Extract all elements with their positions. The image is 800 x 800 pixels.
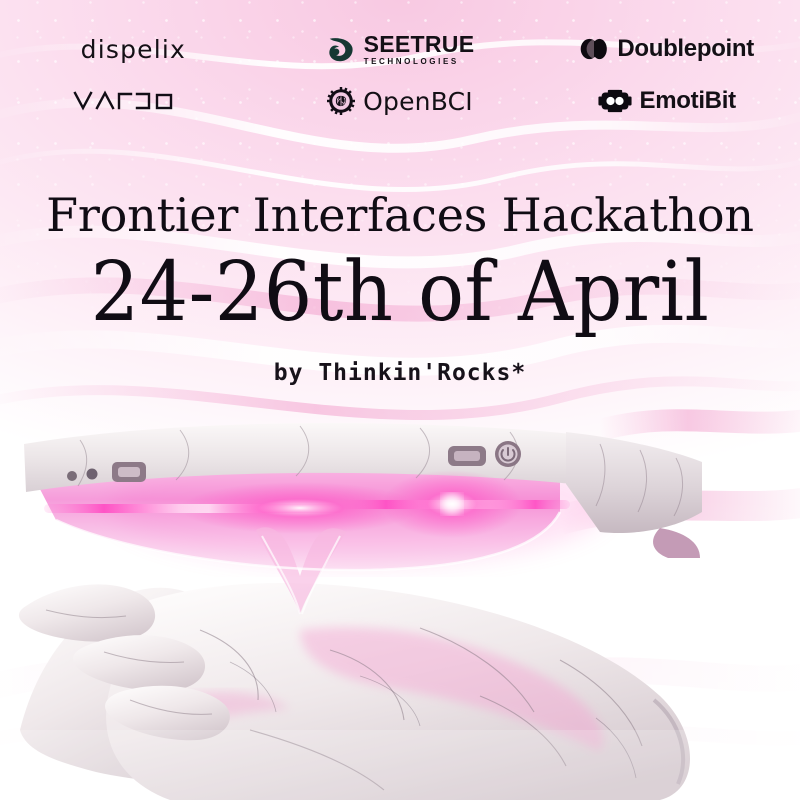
varjo-mark-icon — [73, 90, 193, 112]
seetrue-wordmark-block: SEETRUE TECHNOLOGIES — [364, 33, 475, 66]
headline-block: Frontier Interfaces Hackathon 24-26th of… — [0, 192, 800, 386]
ar-glasses — [24, 423, 702, 614]
sponsor-logo-seetrue[interactable]: SEETRUE TECHNOLOGIES — [267, 30, 534, 68]
seetrue-wordmark: SEETRUE — [364, 33, 475, 56]
poster-canvas: dispelix SEETRUE TECHNOLOGIES — [0, 0, 800, 800]
seetrue-subtitle: TECHNOLOGIES — [364, 58, 459, 66]
sensor-dot-1 — [67, 471, 77, 481]
sponsor-logo-grid: dispelix SEETRUE TECHNOLOGIES — [0, 30, 800, 120]
seetrue-eye-icon — [326, 34, 356, 64]
hero-artwork-marble-hand-ar-glasses — [0, 400, 800, 800]
sponsor-logo-openbci[interactable]: OpenBCI — [267, 82, 534, 120]
event-date: 24-26th of April — [28, 252, 772, 334]
doublepoint-wordmark: Doublepoint — [617, 37, 754, 61]
doublepoint-dots-icon — [579, 38, 609, 60]
sensor-dot-2 — [87, 469, 98, 480]
openbci-gear-brain-icon — [327, 87, 355, 115]
event-byline: by Thinkin'Rocks* — [0, 360, 800, 386]
emotibit-wordmark: EmotiBit — [640, 89, 736, 113]
emotibit-sensor-icon — [598, 89, 632, 113]
sponsor-logo-varjo[interactable] — [0, 82, 267, 120]
event-title: Frontier Interfaces Hackathon — [0, 192, 800, 238]
sponsor-logo-doublepoint[interactable]: Doublepoint — [533, 30, 800, 68]
sponsor-logo-dispelix[interactable]: dispelix — [0, 30, 267, 68]
sponsor-logo-emotibit[interactable]: EmotiBit — [533, 82, 800, 120]
dispelix-wordmark: dispelix — [81, 37, 186, 62]
openbci-wordmark: OpenBCI — [363, 89, 473, 114]
